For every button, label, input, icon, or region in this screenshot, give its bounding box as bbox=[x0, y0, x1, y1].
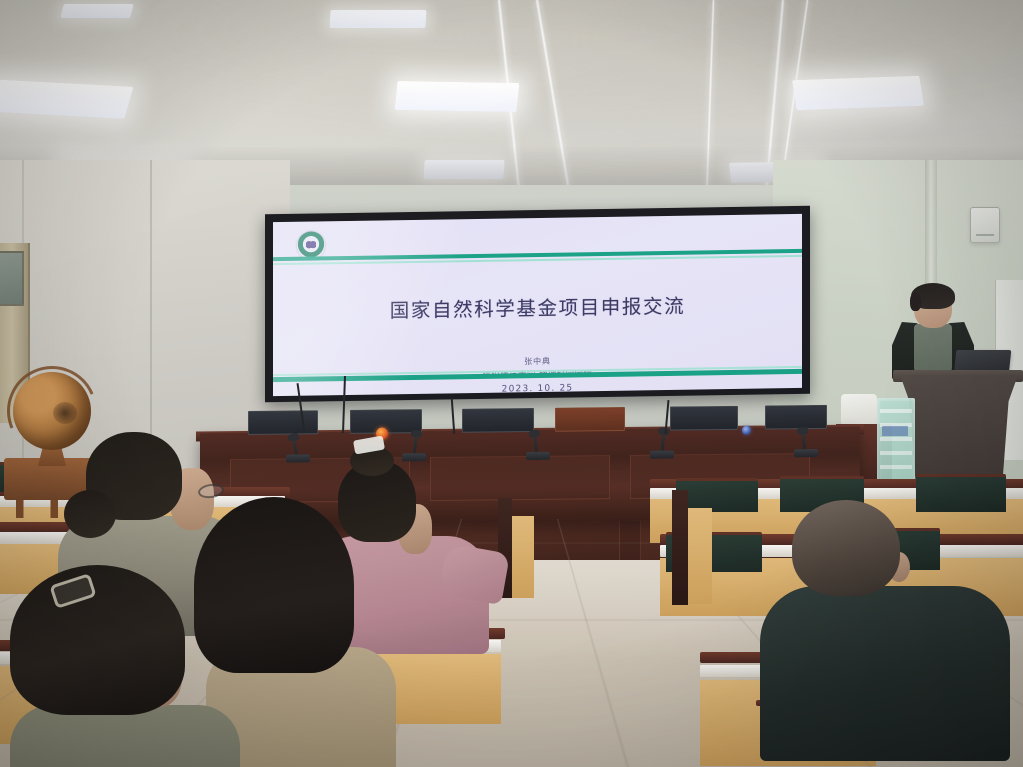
audience-5-jacket bbox=[760, 586, 1010, 761]
led-panel-light bbox=[792, 76, 924, 110]
led-panel-light bbox=[60, 4, 133, 18]
paper-cup-stack bbox=[841, 394, 877, 424]
microphone-base bbox=[794, 449, 818, 457]
nameplate bbox=[248, 410, 318, 435]
slide-title: 国家自然科学基金项目申报交流 bbox=[273, 288, 802, 325]
microphone-base bbox=[286, 454, 310, 462]
audience-5-head bbox=[792, 500, 900, 596]
projection-screen: 国家自然科学基金项目申报交流 张中典 信阳师范大学 地理科学学院 2023. 1… bbox=[273, 214, 802, 396]
bottled-water-stack bbox=[877, 398, 915, 486]
audience-member-3 bbox=[10, 565, 250, 767]
nameplate bbox=[765, 405, 827, 430]
desk-side-panel bbox=[672, 490, 688, 605]
lecture-hall-photo: 国家自然科学基金项目申报交流 张中典 信阳师范大学 地理科学学院 2023. 1… bbox=[0, 0, 1023, 767]
microphone-base bbox=[650, 450, 674, 458]
nameplate bbox=[462, 408, 534, 433]
led-panel-light bbox=[330, 10, 427, 28]
door-window bbox=[0, 251, 24, 306]
desk-front-panel bbox=[688, 508, 712, 604]
lecture-seat bbox=[676, 478, 758, 512]
presenter-face bbox=[918, 304, 948, 310]
audience-member-5 bbox=[760, 500, 1020, 767]
led-panel-light bbox=[395, 81, 520, 112]
nameplate bbox=[670, 406, 738, 431]
microphone-base bbox=[526, 452, 550, 460]
badge-icon bbox=[742, 426, 751, 435]
wall-speaker-icon bbox=[970, 207, 1000, 243]
desk-front-panel bbox=[512, 516, 534, 598]
nameplate bbox=[555, 407, 625, 432]
audience-3-hair bbox=[10, 565, 185, 715]
led-panel-light bbox=[0, 79, 133, 119]
presenter-shirt bbox=[914, 324, 952, 372]
audience-1-hair-bun bbox=[64, 490, 116, 538]
projection-screen-frame: 国家自然科学基金项目申报交流 张中典 信阳师范大学 地理科学学院 2023. 1… bbox=[265, 206, 810, 403]
